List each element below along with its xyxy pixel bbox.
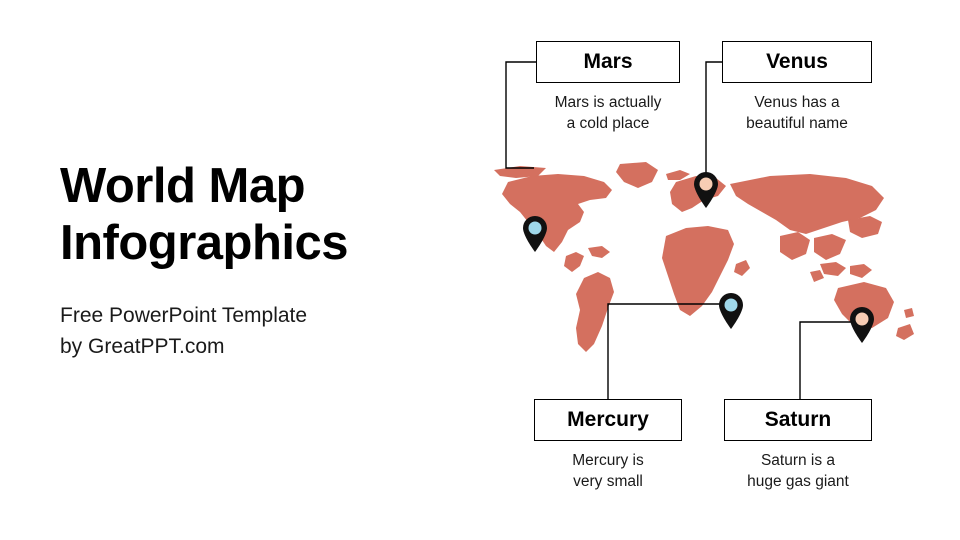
callout-venus-title[interactable]: Venus: [722, 41, 872, 83]
callout-mercury-title[interactable]: Mercury: [534, 399, 682, 441]
connector-mars: [506, 62, 536, 168]
map-pin-mercury[interactable]: [718, 293, 744, 329]
callout-saturn-title[interactable]: Saturn: [724, 399, 872, 441]
callout-mercury: Mercury Mercury is very small: [534, 399, 682, 493]
callout-venus: Venus Venus has a beautiful name: [722, 41, 872, 135]
connector-mercury: [608, 304, 731, 400]
callout-mercury-description: Mercury is very small: [534, 450, 682, 493]
callout-saturn: Saturn Saturn is a huge gas giant: [724, 399, 872, 493]
map-pin-mars[interactable]: [522, 216, 548, 252]
callout-mars: Mars Mars is actually a cold place: [536, 41, 680, 135]
map-pin-saturn[interactable]: [849, 307, 875, 343]
map-pin-venus[interactable]: [693, 172, 719, 208]
callout-mars-title[interactable]: Mars: [536, 41, 680, 83]
callout-venus-description: Venus has a beautiful name: [722, 92, 872, 135]
callout-saturn-description: Saturn is a huge gas giant: [724, 450, 872, 493]
callout-mars-description: Mars is actually a cold place: [536, 92, 680, 135]
slide-canvas: World Map Infographics Free PowerPoint T…: [0, 0, 960, 540]
